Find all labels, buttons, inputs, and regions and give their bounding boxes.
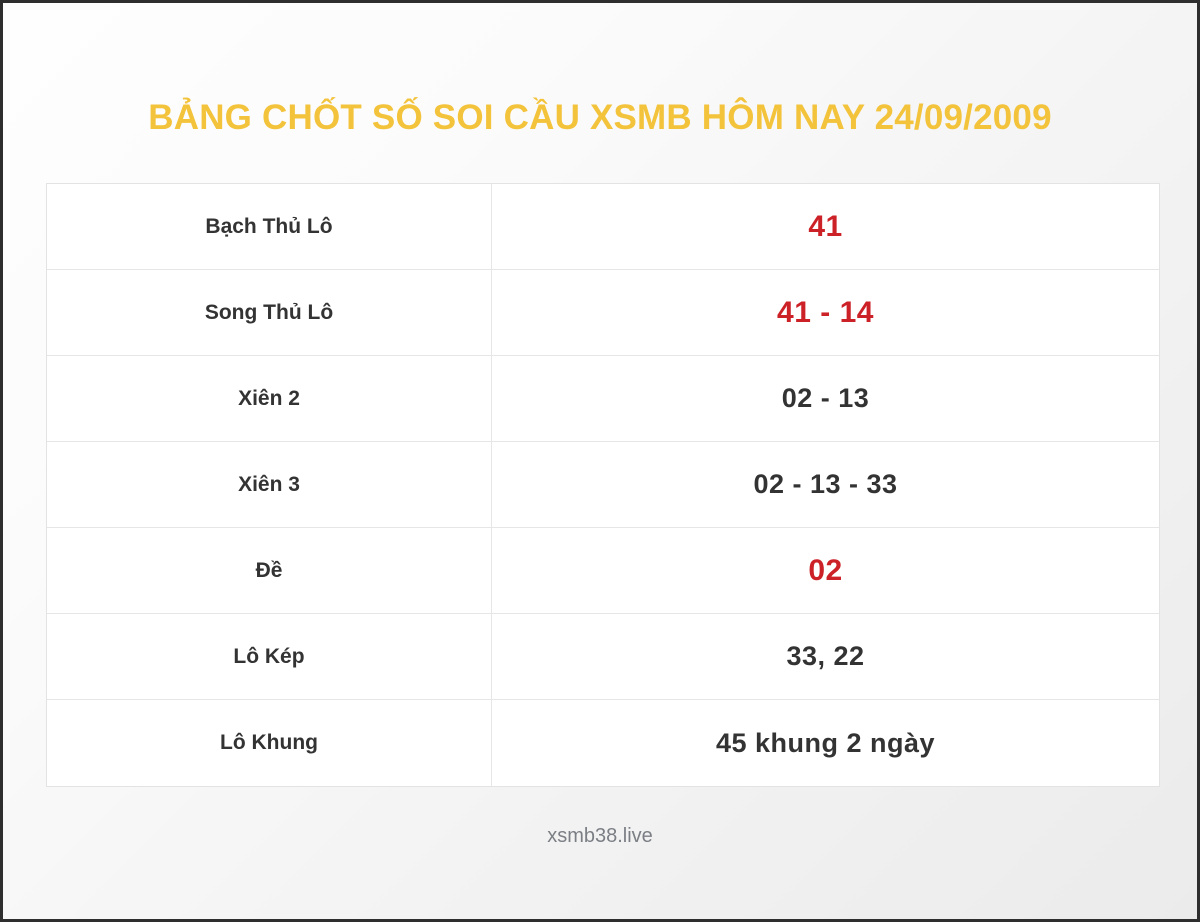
site-watermark: xsmb38.live bbox=[3, 825, 1197, 848]
row-value: 41 - 14 bbox=[492, 270, 1159, 355]
row-label: Đề bbox=[47, 528, 492, 613]
table-row: Lô Khung 45 khung 2 ngày bbox=[47, 700, 1159, 786]
page-canvas: BẢNG CHỐT SỐ SOI CẦU XSMB HÔM NAY 24/09/… bbox=[0, 0, 1200, 922]
row-value: 33, 22 bbox=[492, 614, 1159, 699]
row-label: Bạch Thủ Lô bbox=[47, 184, 492, 269]
table-row: Lô Kép 33, 22 bbox=[47, 614, 1159, 700]
row-label: Xiên 3 bbox=[47, 442, 492, 527]
row-label: Xiên 2 bbox=[47, 356, 492, 441]
row-value: 02 - 13 - 33 bbox=[492, 442, 1159, 527]
table-row: Xiên 3 02 - 13 - 33 bbox=[47, 442, 1159, 528]
row-value: 02 - 13 bbox=[492, 356, 1159, 441]
table-row: Xiên 2 02 - 13 bbox=[47, 356, 1159, 442]
prediction-table: Bạch Thủ Lô 41 Song Thủ Lô 41 - 14 Xiên … bbox=[46, 183, 1160, 787]
row-value: 45 khung 2 ngày bbox=[492, 700, 1159, 786]
table-row: Bạch Thủ Lô 41 bbox=[47, 184, 1159, 270]
row-value: 02 bbox=[492, 528, 1159, 613]
row-value: 41 bbox=[492, 184, 1159, 269]
row-label: Lô Khung bbox=[47, 700, 492, 786]
row-label: Song Thủ Lô bbox=[47, 270, 492, 355]
row-label: Lô Kép bbox=[47, 614, 492, 699]
table-row: Song Thủ Lô 41 - 14 bbox=[47, 270, 1159, 356]
table-row: Đề 02 bbox=[47, 528, 1159, 614]
page-title: BẢNG CHỐT SỐ SOI CẦU XSMB HÔM NAY 24/09/… bbox=[3, 98, 1197, 138]
